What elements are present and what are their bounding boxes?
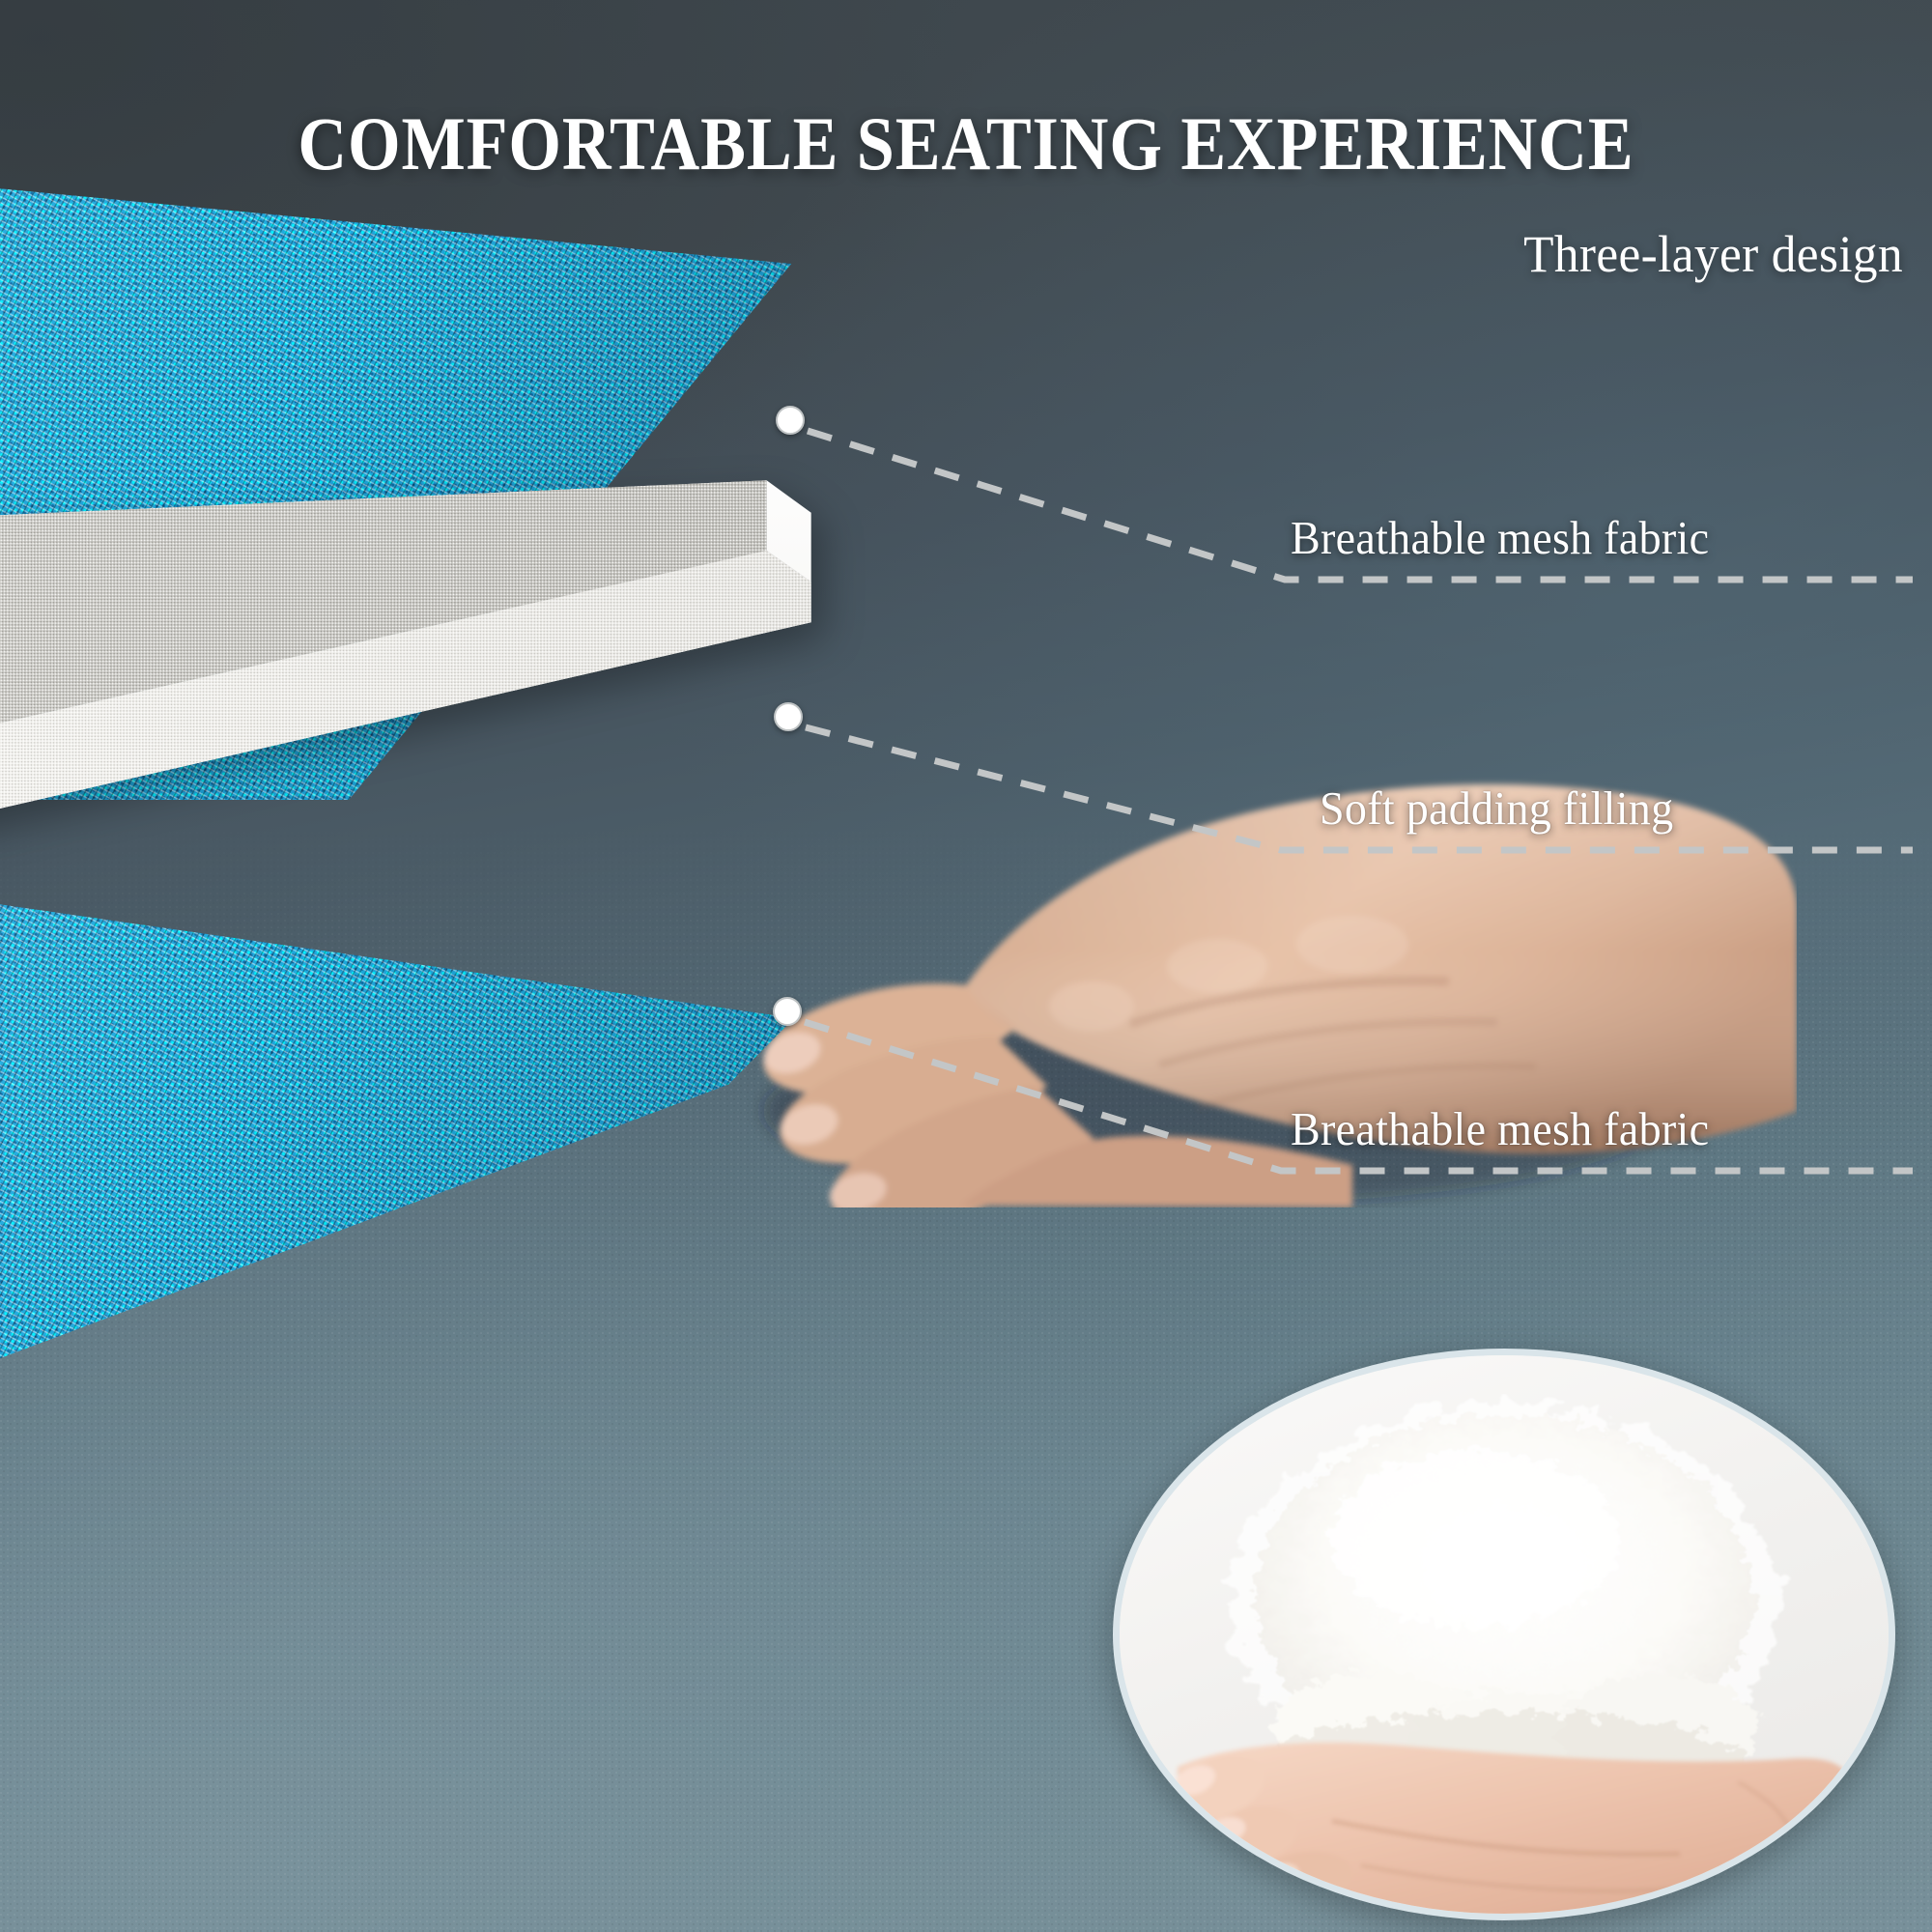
- open-palm-holding-fiberfill: [1158, 1695, 1854, 1920]
- callout-dot-bottom-mesh[interactable]: [773, 997, 802, 1026]
- callout-label-top-mesh: Breathable mesh fabric: [1291, 510, 1709, 565]
- callout-dot-top-mesh[interactable]: [776, 406, 805, 435]
- fiberfill-detail-inset: [1113, 1349, 1895, 1920]
- callout-label-padding: Soft padding filling: [1320, 781, 1673, 836]
- callout-label-bottom-mesh: Breathable mesh fabric: [1291, 1101, 1709, 1156]
- product-infographic: Breathable mesh fabric Soft padding fill…: [0, 0, 1932, 1932]
- page-title: COMFORTABLE SEATING EXPERIENCE: [97, 100, 1835, 187]
- callout-dot-padding[interactable]: [774, 702, 803, 731]
- page-subtitle: Three-layer design: [985, 224, 1903, 284]
